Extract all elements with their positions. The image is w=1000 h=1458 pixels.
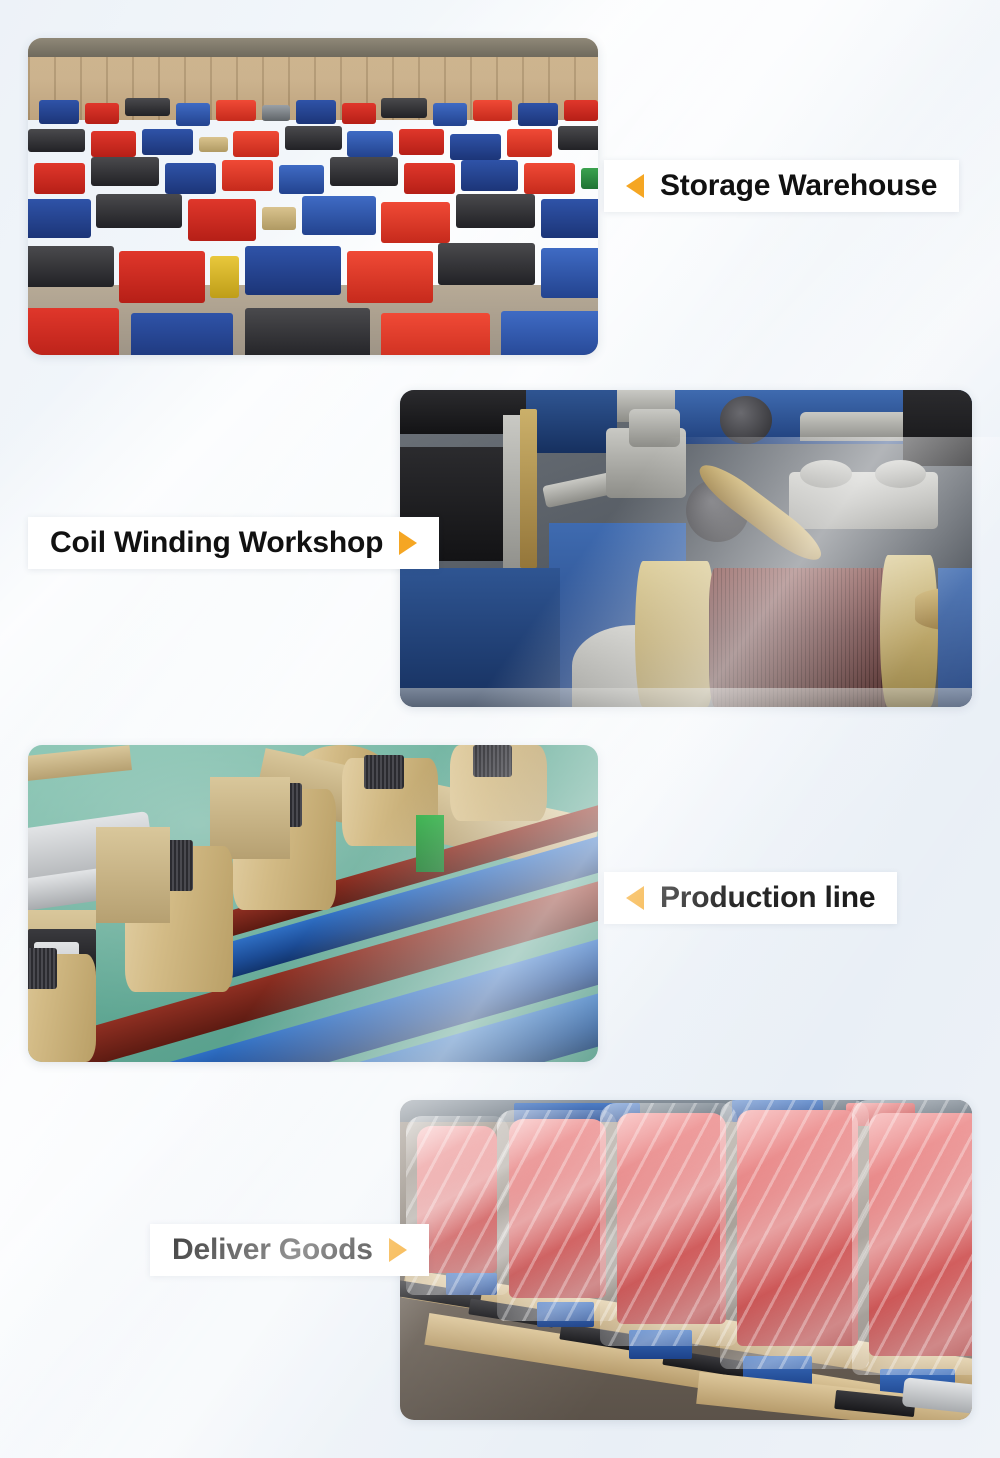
scene-storage-warehouse [28,38,598,355]
triangle-left-icon [626,174,644,198]
warehouse-roof [28,38,598,57]
photo-storage-warehouse[interactable] [28,38,598,355]
scene-coil-winding-workshop [400,390,972,707]
photo-coil-winding-workshop[interactable] [400,390,972,707]
label-text-deliver-goods: Deliver Goods [172,1235,373,1265]
label-text-production-line: Production line [660,883,875,913]
label-text-coil-winding-workshop: Coil Winding Workshop [50,528,383,558]
triangle-left-icon [626,886,644,910]
label-coil-winding-workshop[interactable]: Coil Winding Workshop [28,517,439,569]
triangle-right-icon [389,1238,407,1262]
scene-deliver-goods [400,1100,972,1420]
photo-deliver-goods[interactable] [400,1100,972,1420]
transformer-rows [28,95,598,355]
page-background: Storage Warehouse [0,0,1000,1458]
label-production-line[interactable]: Production line [604,872,897,924]
triangle-right-icon [399,531,417,555]
label-deliver-goods[interactable]: Deliver Goods [150,1224,429,1276]
photo-production-line[interactable] [28,745,598,1062]
scene-production-line [28,745,598,1062]
label-text-storage-warehouse: Storage Warehouse [660,171,937,201]
label-storage-warehouse[interactable]: Storage Warehouse [604,160,959,212]
